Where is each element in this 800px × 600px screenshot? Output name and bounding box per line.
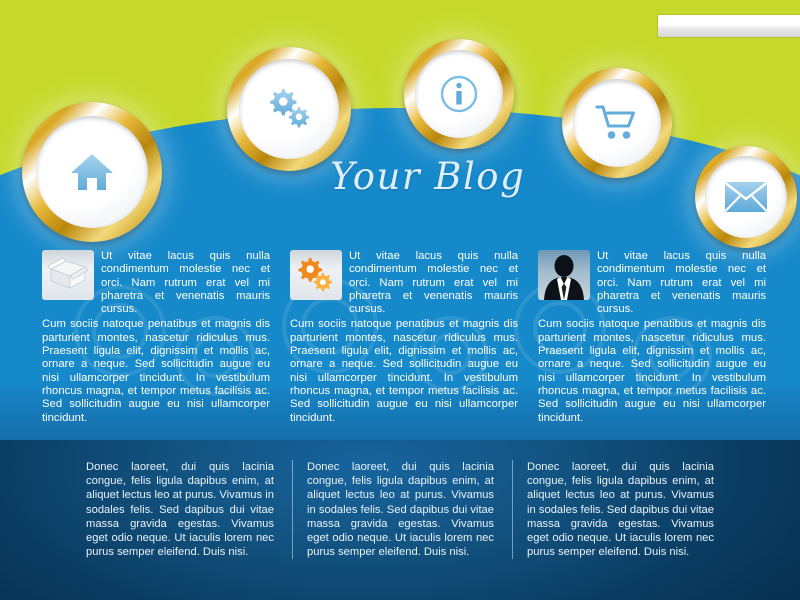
- nav-circle-cart[interactable]: [562, 68, 672, 178]
- nav-circle-cart-inner: [573, 79, 661, 167]
- nav-circle-info-inner: [415, 50, 503, 138]
- search-bar[interactable]: [657, 14, 791, 38]
- feature-column-head: Ut vitae lacus quis nulla condimentum mo…: [42, 250, 270, 316]
- open-box-icon: [46, 255, 90, 295]
- feature-thumb[interactable]: [290, 250, 342, 300]
- footer-column-text: Donec laoreet, dui quis lacinia congue, …: [292, 460, 512, 559]
- cart-icon: [594, 103, 640, 143]
- footer-column-text: Donec laoreet, dui quis lacinia congue, …: [72, 460, 292, 559]
- info-icon: [438, 73, 480, 115]
- feature-column: Ut vitae lacus quis nulla condimentum mo…: [538, 250, 766, 425]
- page-root: Your Blog Ut vitae lacus quis nulla cond…: [0, 0, 800, 600]
- feature-thumb[interactable]: [42, 250, 94, 300]
- feature-lead: Ut vitae lacus quis nulla condimentum mo…: [349, 250, 518, 316]
- feature-column-head: Ut vitae lacus quis nulla condimentum mo…: [538, 250, 766, 316]
- home-icon: [69, 151, 115, 193]
- feature-lead: Ut vitae lacus quis nulla condimentum mo…: [101, 250, 270, 316]
- page-title: Your Blog: [330, 155, 525, 198]
- feature-column-head: Ut vitae lacus quis nulla condimentum mo…: [290, 250, 518, 316]
- search-input[interactable]: [657, 14, 800, 38]
- feature-body: Cum sociis natoque penatibus et magnis d…: [42, 318, 270, 424]
- feature-column: Ut vitae lacus quis nulla condimentum mo…: [42, 250, 270, 425]
- footer-columns: Donec laoreet, dui quis lacinia congue, …: [72, 460, 732, 559]
- nav-circle-contact-inner: [705, 156, 787, 238]
- gears-icon: [295, 256, 337, 294]
- gears-icon: [265, 87, 313, 131]
- envelope-icon: [724, 181, 768, 213]
- nav-circle-home[interactable]: [22, 102, 162, 242]
- footer-column-text: Donec laoreet, dui quis lacinia congue, …: [512, 460, 732, 559]
- feature-body: Cum sociis natoque penatibus et magnis d…: [290, 318, 518, 424]
- feature-lead: Ut vitae lacus quis nulla condimentum mo…: [597, 250, 766, 316]
- feature-body: Cum sociis natoque penatibus et magnis d…: [538, 318, 766, 424]
- nav-circle-settings-inner: [239, 59, 339, 159]
- nav-circle-contact[interactable]: [695, 146, 797, 248]
- nav-circle-settings[interactable]: [227, 47, 351, 171]
- businessman-avatar-icon: [538, 250, 590, 300]
- feature-thumb[interactable]: [538, 250, 590, 300]
- feature-columns: Ut vitae lacus quis nulla condimentum mo…: [42, 250, 766, 425]
- nav-circle-home-inner: [36, 116, 148, 228]
- nav-circle-info[interactable]: [404, 39, 514, 149]
- feature-column: Ut vitae lacus quis nulla condimentum mo…: [290, 250, 518, 425]
